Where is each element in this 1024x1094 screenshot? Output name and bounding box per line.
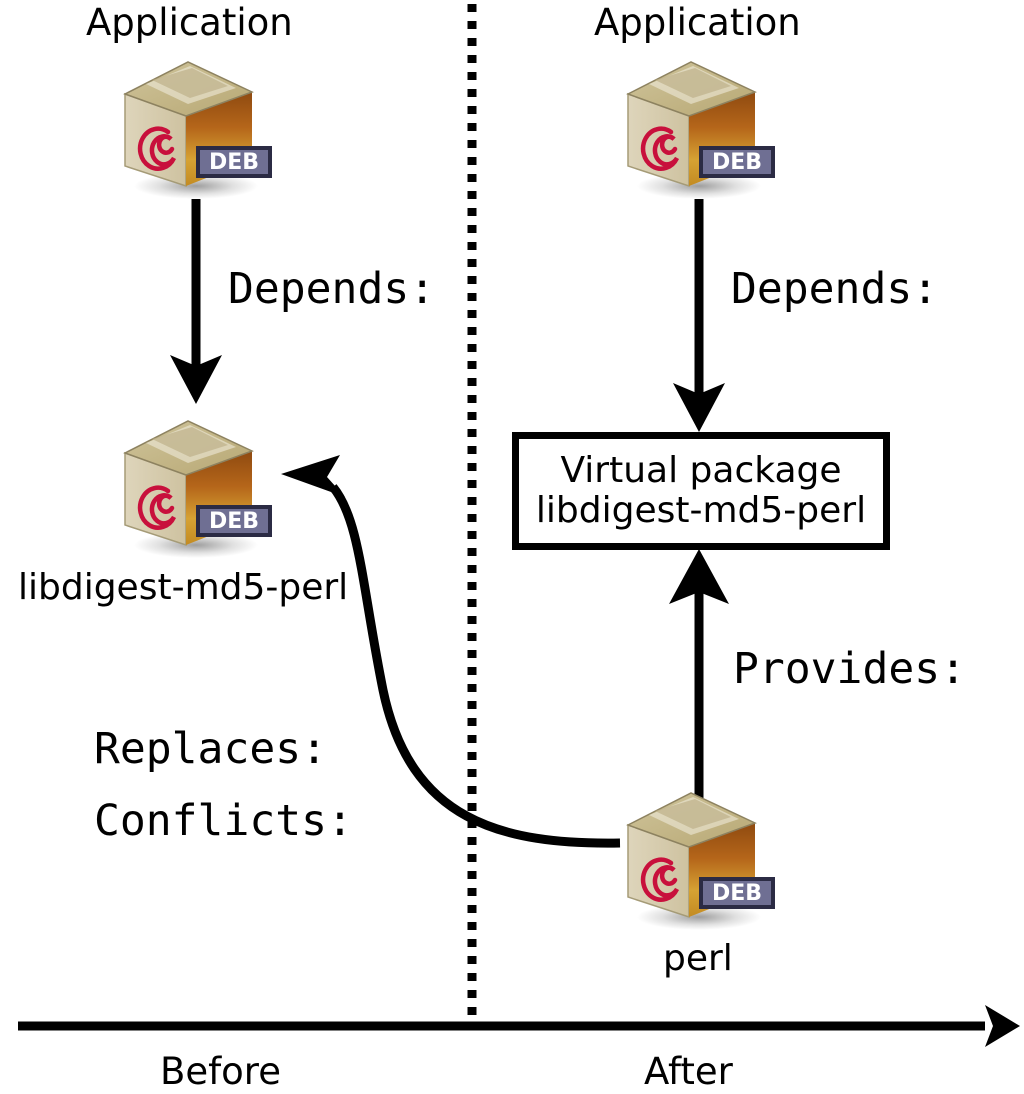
svg-text:DEB: DEB xyxy=(712,881,762,906)
relation-provides: Provides: xyxy=(733,648,966,691)
relation-replaces: Replaces: xyxy=(94,728,327,771)
virtual-package-line2: libdigest-md5-perl xyxy=(536,491,866,531)
debian-package-icon-libdigest: DEB xyxy=(125,421,272,558)
debian-package-icon-perl: DEB xyxy=(628,793,775,930)
svg-text:DEB: DEB xyxy=(209,509,259,534)
arrow-provides xyxy=(669,549,729,800)
time-axis xyxy=(18,1005,1020,1047)
arrow-depends-left xyxy=(170,199,222,404)
heading-application-before: Application xyxy=(86,4,293,41)
relation-depends-right: Depends: xyxy=(731,268,938,311)
heading-application-after: Application xyxy=(594,4,801,41)
relation-depends-left: Depends: xyxy=(228,268,435,311)
package-label-perl: perl xyxy=(663,941,733,977)
debian-package-icon-app-before: DEB xyxy=(125,62,272,199)
svg-text:DEB: DEB xyxy=(209,150,259,175)
relation-conflicts: Conflicts: xyxy=(94,800,353,843)
svg-text:DEB: DEB xyxy=(712,150,762,175)
deb-badge-libdigest: DEB xyxy=(196,505,272,537)
arrow-depends-right xyxy=(673,199,725,432)
package-label-libdigest: libdigest-md5-perl xyxy=(18,570,348,606)
axis-label-before: Before xyxy=(160,1053,281,1090)
deb-badge-app-after: DEB xyxy=(699,146,775,178)
axis-label-after: After xyxy=(644,1053,733,1090)
virtual-package-box: Virtual package libdigest-md5-perl xyxy=(512,432,890,550)
deb-badge-perl: DEB xyxy=(699,877,775,909)
debian-package-icon-app-after: DEB xyxy=(628,62,775,199)
deb-badge-app-before: DEB xyxy=(196,146,272,178)
virtual-package-line1: Virtual package xyxy=(560,451,841,491)
diagram-canvas: DEB DEB xyxy=(0,0,1024,1094)
